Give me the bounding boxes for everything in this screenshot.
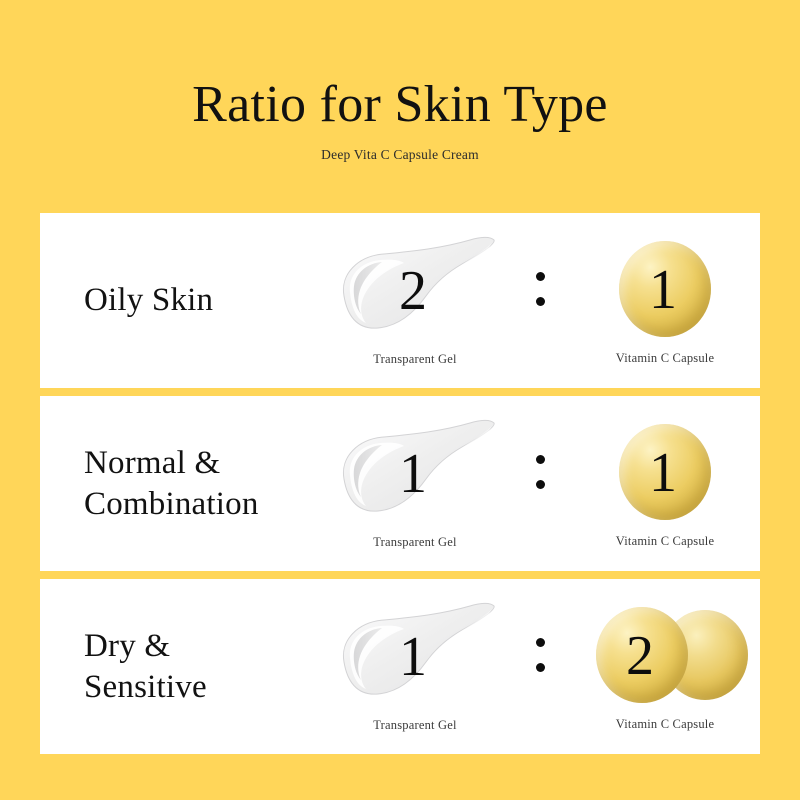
colon-dot-bottom [536, 663, 545, 672]
colon-dot-bottom [536, 297, 545, 306]
gel-unit: 1 Transparent Gel [320, 417, 510, 550]
ratio-card-normal-combination: Normal & Combination [40, 396, 760, 571]
page-subtitle: Deep Vita C Capsule Cream [0, 147, 800, 163]
capsule-unit: 1 Vitamin C Capsule [570, 235, 760, 366]
transparent-gel-icon: 1 [330, 417, 500, 527]
page-title: Ratio for Skin Type [0, 78, 800, 133]
gel-caption: Transparent Gel [373, 535, 456, 550]
gel-amount-value: 1 [399, 629, 427, 685]
skin-type-label-dry: Dry & Sensitive [40, 626, 320, 707]
gel-caption: Transparent Gel [373, 352, 456, 367]
capsule-amount-value: 1 [649, 262, 677, 318]
capsule-unit: 1 Vitamin C Capsule [570, 418, 760, 549]
skin-type-line: Oily Skin [84, 280, 320, 320]
capsule-caption: Vitamin C Capsule [616, 534, 714, 549]
ratio-card-dry-sensitive: Dry & Sensitive [40, 579, 760, 754]
gel-amount-value: 1 [399, 446, 427, 502]
gel-caption: Transparent Gel [373, 718, 456, 733]
colon-dot-bottom [536, 480, 545, 489]
ratio-display-dry: 1 Transparent Gel 2 Vitamin C Capsule [320, 579, 760, 754]
capsule-amount-value: 2 [626, 628, 654, 684]
skin-type-line: Sensitive [84, 667, 320, 707]
ratio-separator [510, 272, 570, 306]
ratio-separator [510, 638, 570, 672]
gel-unit: 2 Transparent Gel [320, 234, 510, 367]
ratio-card-list: Oily Skin [40, 213, 760, 754]
skin-type-label-normal: Normal & Combination [40, 443, 320, 524]
skin-type-line: Combination [84, 484, 320, 524]
ratio-display-oily: 2 Transparent Gel 1 Vitamin C Capsule [320, 213, 760, 388]
capsule-caption: Vitamin C Capsule [616, 351, 714, 366]
vitamin-c-capsule-icon: 1 [590, 235, 740, 343]
poster-header: Ratio for Skin Type Deep Vita C Capsule … [0, 0, 800, 163]
capsule-amount-value: 1 [649, 445, 677, 501]
capsule-unit: 2 Vitamin C Capsule [570, 601, 760, 732]
infographic-poster: Ratio for Skin Type Deep Vita C Capsule … [0, 0, 800, 800]
colon-dot-top [536, 455, 545, 464]
ratio-separator [510, 455, 570, 489]
skin-type-label-oily: Oily Skin [40, 280, 320, 320]
gel-amount-value: 2 [399, 263, 427, 319]
skin-type-line: Normal & [84, 443, 320, 483]
skin-type-line: Dry & [84, 626, 320, 666]
transparent-gel-icon: 2 [330, 234, 500, 344]
vitamin-c-capsule-icon: 1 [590, 418, 740, 526]
transparent-gel-icon: 1 [330, 600, 500, 710]
ratio-display-normal: 1 Transparent Gel 1 Vitamin C Capsule [320, 396, 760, 571]
gel-unit: 1 Transparent Gel [320, 600, 510, 733]
colon-dot-top [536, 272, 545, 281]
capsule-caption: Vitamin C Capsule [616, 717, 714, 732]
vitamin-c-capsule-icon: 2 [590, 601, 740, 709]
colon-dot-top [536, 638, 545, 647]
ratio-card-oily-skin: Oily Skin [40, 213, 760, 388]
